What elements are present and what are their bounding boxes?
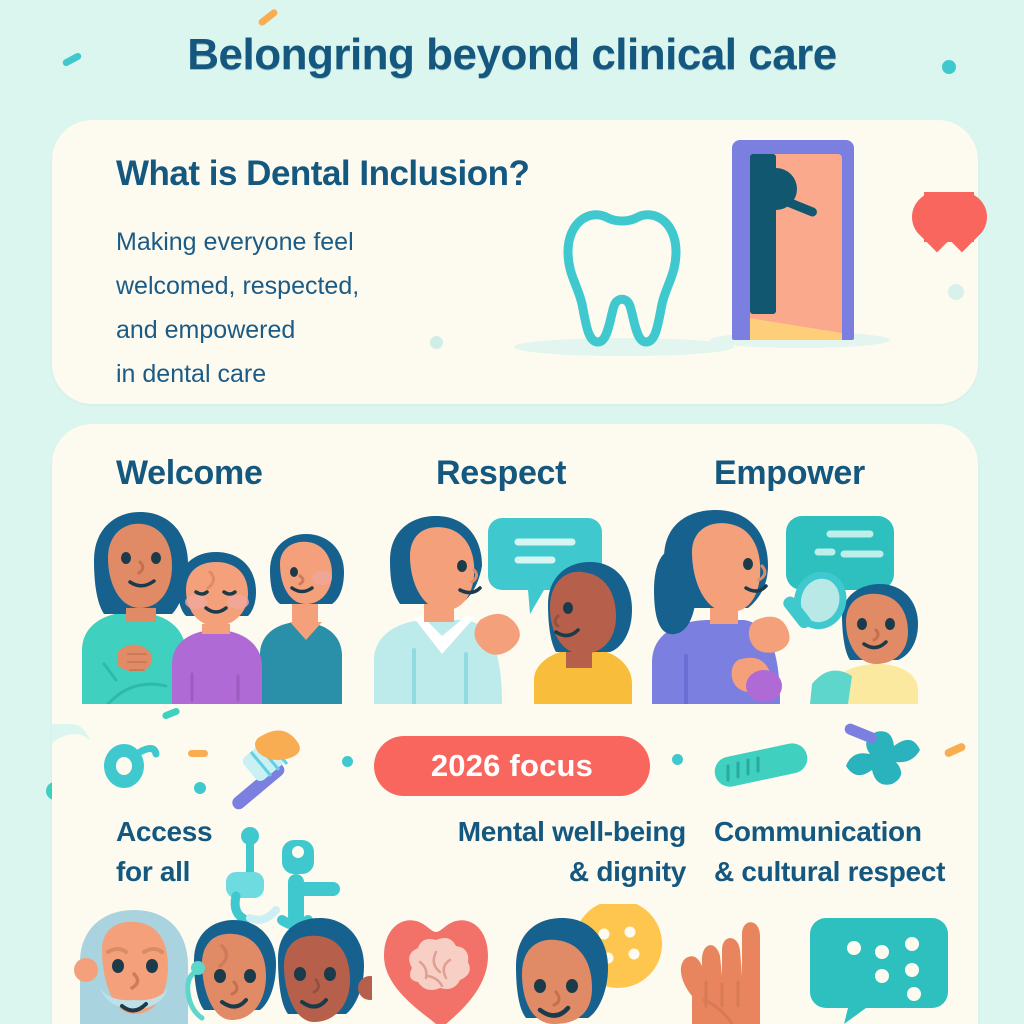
intro-body-line-4: in dental care <box>116 352 516 396</box>
confetti-dot-teal-1 <box>194 782 206 794</box>
heart-icon <box>924 192 974 242</box>
confetti-dot-teal-2 <box>342 756 353 767</box>
confetti-dot-mint-left <box>430 336 443 349</box>
confetti-dot-mint-right <box>948 284 964 300</box>
intro-body-line-2: welcomed, respected, <box>116 264 516 308</box>
confetti-dash-orange-2 <box>943 742 966 758</box>
confetti-dash-orange-1 <box>188 750 208 757</box>
pillars-card: Welcome Respect Empower <box>52 424 978 1024</box>
focus-label-communication-line-1: Communication <box>714 812 978 852</box>
confetti-dash-teal-small <box>161 707 180 720</box>
pillar-title-empower: Empower <box>714 454 865 493</box>
toothpaste-tube-icon <box>706 732 814 794</box>
focus-badge: 2026 focus <box>374 736 650 796</box>
intro-heading: What is Dental Inclusion? <box>116 154 529 194</box>
intro-card: What is Dental Inclusion? Making everyon… <box>52 120 978 404</box>
dental-mirror-icon <box>100 736 160 794</box>
pillar-title-welcome: Welcome <box>116 454 263 493</box>
tooth-outline-icon <box>532 200 712 360</box>
dentist-child-mirror-illustration <box>652 504 952 704</box>
focus-label-wellbeing-line-2: & dignity <box>396 852 686 892</box>
focus-label-access-line-1: Access <box>116 812 212 852</box>
sign-language-braille-illustration <box>676 904 966 1024</box>
focus-badge-label: 2026 focus <box>431 748 593 784</box>
diverse-patients-accessibility-illustration <box>72 904 372 1024</box>
open-door-icon <box>732 140 882 355</box>
focus-label-wellbeing-line-1: Mental well-being <box>396 812 686 852</box>
focus-label-communication-line-2: & cultural respect <box>714 852 978 892</box>
family-group-illustration <box>74 504 374 704</box>
page-title: Belongring beyond clinical care <box>0 30 1024 80</box>
pillar-title-respect: Respect <box>436 454 566 493</box>
focus-label-wellbeing: Mental well-being & dignity <box>396 812 686 892</box>
focus-label-communication: Communication & cultural respect <box>714 812 978 892</box>
clinician-patient-conversation-illustration <box>370 504 660 704</box>
intro-body-line-3: and empowered <box>116 308 516 352</box>
toothbrush-icon <box>220 722 312 814</box>
intro-body: Making everyone feel welcomed, respected… <box>116 220 516 396</box>
infographic-canvas: Belongring beyond clinical care What is … <box>0 0 1024 1024</box>
confetti-dot-teal-3 <box>672 754 683 765</box>
heart-brain-wellbeing-illustration <box>376 904 666 1024</box>
intro-body-line-1: Making everyone feel <box>116 220 516 264</box>
focus-label-access-line-2: for all <box>116 852 212 892</box>
confetti-dash-orange-top <box>257 8 279 27</box>
leaf-icon <box>836 722 926 798</box>
focus-label-access: Access for all <box>116 812 212 892</box>
